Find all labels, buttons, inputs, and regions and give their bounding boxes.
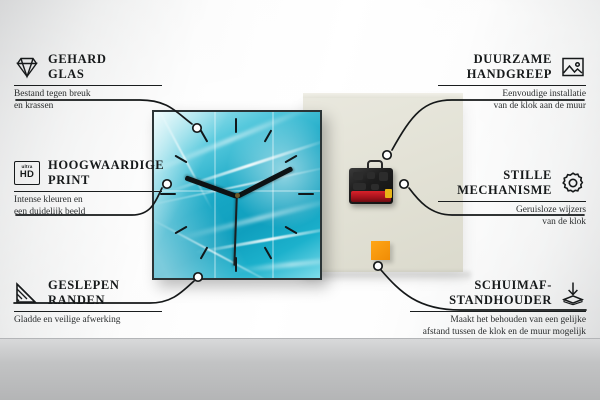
feature-desc-line2: van de klok bbox=[438, 217, 586, 229]
feature-rule bbox=[410, 311, 586, 312]
feature-desc-line2: en krassen bbox=[14, 101, 162, 113]
ultra-hd-icon-large-text: HD bbox=[20, 170, 34, 180]
feature-title-line2: PRINT bbox=[48, 173, 164, 188]
feature-desc-line1: Intense kleuren en bbox=[14, 195, 162, 207]
infographic-canvas: GEHARD GLAS Bestand tegen breuk en krass… bbox=[0, 0, 600, 400]
connector-dot bbox=[400, 180, 408, 188]
feature-title-line2: STANDHOUDER bbox=[449, 293, 552, 308]
feature-rule bbox=[14, 191, 162, 192]
diamond-icon bbox=[14, 54, 40, 80]
feature-title-line1: DUURZAME bbox=[467, 52, 552, 67]
feature-desc-line1: Gladde en veilige afwerking bbox=[14, 315, 162, 327]
feature-desc-line1: Maakt het behouden van een gelijke bbox=[410, 315, 586, 327]
feature-duurzame-handgreep: DUURZAME HANDGREEP Eenvoudige installati… bbox=[438, 52, 586, 112]
gear-icon bbox=[560, 170, 586, 196]
feature-desc-line1: Bestand tegen breuk bbox=[14, 89, 162, 101]
picture-frame-icon bbox=[560, 54, 586, 80]
connector-dot bbox=[374, 262, 382, 270]
feature-stille-mechanisme: STILLE MECHANISME Geruisloze wijzers van… bbox=[438, 168, 586, 228]
beveled-edges-icon bbox=[14, 280, 40, 306]
feature-rule bbox=[438, 85, 586, 86]
feature-title-line1: GEHARD bbox=[48, 52, 106, 67]
feature-title-line2: RANDEN bbox=[48, 293, 120, 308]
feature-title-line2: MECHANISME bbox=[457, 183, 552, 198]
feature-rule bbox=[438, 201, 586, 202]
feature-schuimafstandhouder: SCHUIMAF- STANDHOUDER Maakt het behouden… bbox=[410, 278, 586, 338]
feature-gehard-glas: GEHARD GLAS Bestand tegen breuk en krass… bbox=[14, 52, 162, 112]
feature-desc-line1: Geruisloze wijzers bbox=[438, 205, 586, 217]
feature-rule bbox=[14, 311, 162, 312]
down-arrow-spacer-icon bbox=[560, 280, 586, 306]
feature-desc-line2: van de klok aan de muur bbox=[438, 101, 586, 113]
feature-rule bbox=[14, 85, 162, 86]
feature-title-line1: GESLEPEN bbox=[48, 278, 120, 293]
feature-desc-line1: Eenvoudige installatie bbox=[438, 89, 586, 101]
feature-title-line1: HOOGWAARDIGE bbox=[48, 158, 164, 173]
feature-desc-line2: afstand tussen de klok en de muur mogeli… bbox=[410, 327, 586, 339]
feature-title-line2: HANDGREEP bbox=[467, 67, 552, 82]
feature-title-line2: GLAS bbox=[48, 67, 106, 82]
connector-dot bbox=[383, 151, 391, 159]
connector-dot bbox=[193, 124, 201, 132]
feature-geslepen-randen: GESLEPEN RANDEN Gladde en veilige afwerk… bbox=[14, 278, 162, 327]
feature-hoogwaardige-print: ultra HD HOOGWAARDIGE PRINT Intense kleu… bbox=[14, 158, 162, 218]
feature-title-line1: SCHUIMAF- bbox=[449, 278, 552, 293]
feature-desc-line2: een duidelijk beeld bbox=[14, 207, 162, 219]
ultra-hd-icon: ultra HD bbox=[14, 160, 40, 186]
connector-dot bbox=[194, 273, 202, 281]
feature-title-line1: STILLE bbox=[457, 168, 552, 183]
